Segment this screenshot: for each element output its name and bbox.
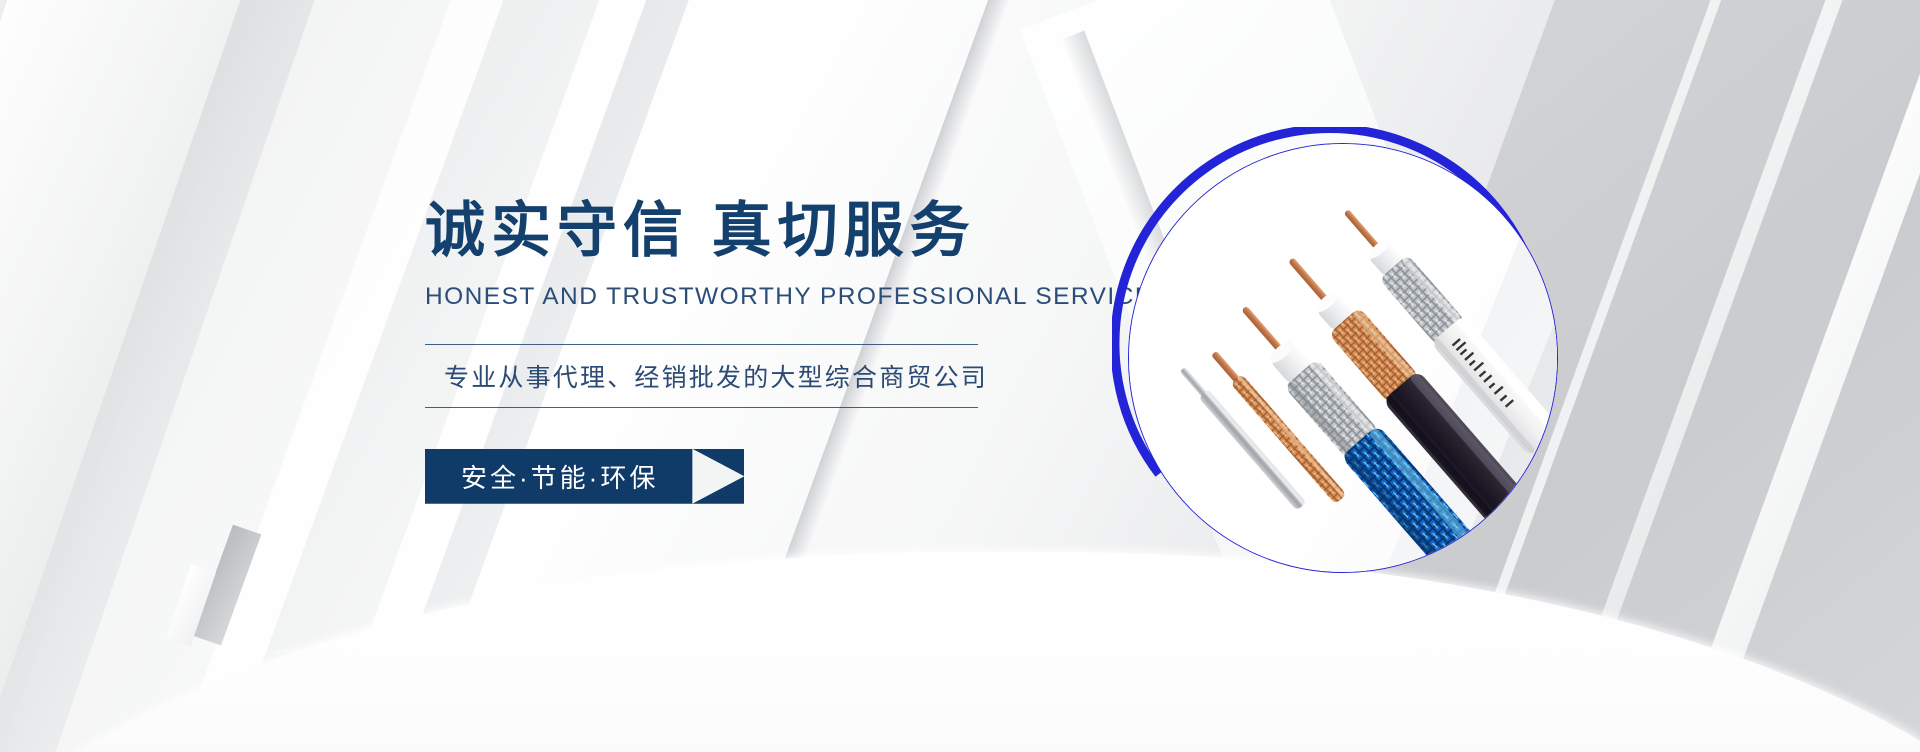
medallion-photo [1128,143,1558,573]
page-description: 专业从事代理、经销批发的大型综合商贸公司 [425,345,1045,407]
bg-stripe-bottom-left [193,525,262,646]
bg-wedge-left-bright [0,0,317,752]
product-medallion [1128,143,1558,573]
bg-slab-right-edge [1573,0,1920,752]
feature-badge-label: 安全·节能·环保 [461,458,658,495]
feature-badge[interactable]: 安全·节能·环保 [425,449,744,504]
divider-top [425,344,978,345]
bg-floor [0,552,1920,752]
bg-stripe-bottom-left-white [166,564,216,646]
page-title: 诚实守信 真切服务 [425,196,1045,267]
bg-floor-highlight [140,649,1640,654]
divider-bottom [425,407,978,408]
hero-banner: 诚实守信 真切服务 HONEST AND TRUSTWORTHY PROFESS… [0,0,1920,752]
bg-wedge-left-thin [0,0,73,752]
coaxial-cable-illustration [1129,144,1558,573]
page-subtitle: HONEST AND TRUSTWORTHY PROFESSIONAL SERV… [425,283,1045,311]
hero-copy: 诚实守信 真切服务 HONEST AND TRUSTWORTHY PROFESS… [425,196,1045,504]
bg-wedge-left-gray [0,0,396,752]
bg-wedge-left-outer [0,0,232,752]
badge-container: 安全·节能·环保 [425,449,1045,504]
